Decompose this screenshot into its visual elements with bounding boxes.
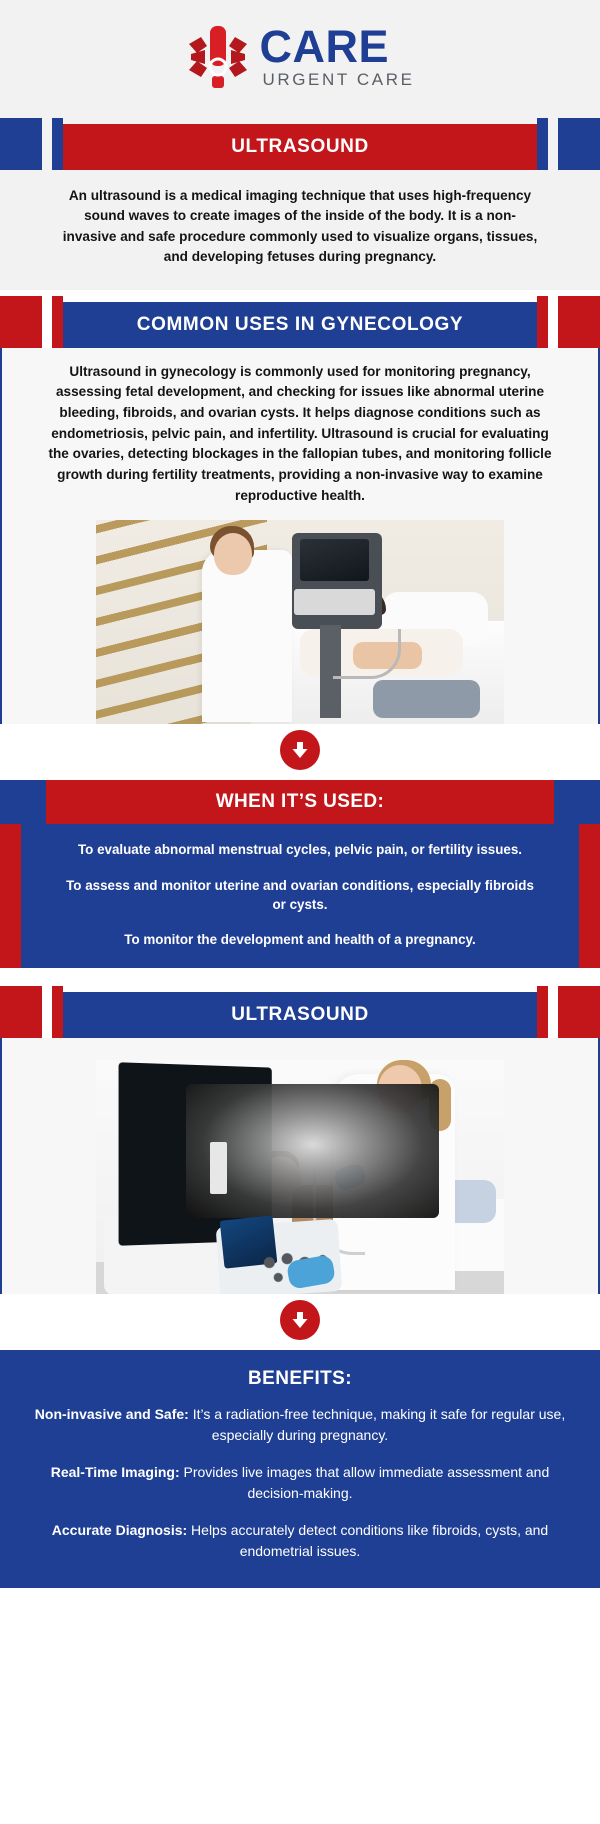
infographic-page: CARE URGENT CARE ULTRASOUND An ultrasoun… (0, 0, 600, 1588)
decor-block-wide (0, 986, 42, 1038)
gynecology-section: Ultrasound in gynecology is commonly use… (0, 348, 600, 745)
decor-block-narrow (537, 296, 548, 348)
arrow-down-divider-2 (0, 1294, 600, 1350)
gynecology-photo-frame (96, 520, 504, 742)
ultrasound-photo-frame (96, 1060, 504, 1312)
decor-block-narrow (537, 118, 548, 170)
benefit-text: Provides live images that allow immediat… (180, 1464, 550, 1501)
list-item: To assess and monitor uterine and ovaria… (65, 876, 534, 915)
list-item: To monitor the development and health of… (65, 930, 534, 949)
ultrasound-banner-row: ULTRASOUND (0, 112, 600, 170)
decor-block-narrow (52, 118, 63, 170)
logo-header: CARE URGENT CARE (0, 0, 600, 112)
decor-gap (548, 118, 558, 170)
decor-block-wide (558, 986, 600, 1038)
benefit-lead: Non-invasive and Safe: (35, 1406, 189, 1422)
decor-gap (42, 296, 52, 348)
ultrasound-photo-section (0, 1038, 600, 1314)
benefit-item: Real-Time Imaging: Provides live images … (34, 1462, 566, 1504)
decor-block-wide (558, 296, 600, 348)
decor-block-right (579, 824, 600, 968)
arrow-down-circle-icon (280, 1300, 320, 1340)
decor-block-narrow (52, 296, 63, 348)
list-item: To evaluate abnormal menstrual cycles, p… (65, 840, 534, 859)
logo-sub-text: URGENT CARE (259, 71, 414, 88)
logo-main-text: CARE (259, 26, 389, 69)
right-decor-blocks (537, 112, 600, 170)
benefit-item: Non-invasive and Safe: It’s a radiation-… (34, 1404, 566, 1446)
ultrasound-banner-title: ULTRASOUND (63, 124, 537, 170)
left-decor-blocks (0, 290, 63, 348)
decor-block-wide (0, 118, 42, 170)
when-used-body-row: To evaluate abnormal menstrual cycles, p… (0, 824, 600, 968)
brand-logo[interactable]: CARE URGENT CARE (185, 22, 414, 92)
benefit-lead: Real-Time Imaging: (51, 1464, 180, 1480)
arrow-down-circle-icon (280, 730, 320, 770)
when-used-header-row: WHEN IT’S USED: (0, 780, 600, 824)
benefits-title: BENEFITS: (34, 1368, 566, 1390)
benefit-item: Accurate Diagnosis: Helps accurately det… (34, 1520, 566, 1562)
right-decor-blocks (537, 290, 600, 348)
left-decor-blocks (0, 980, 63, 1038)
ultrasound-intro-text: An ultrasound is a medical imaging techn… (0, 170, 600, 290)
right-decor-blocks (537, 980, 600, 1038)
when-used-list: To evaluate abnormal menstrual cycles, p… (21, 824, 578, 968)
decor-block-wide (0, 296, 42, 348)
ultrasound-scan-photo (96, 1060, 504, 1300)
spacer (0, 968, 600, 980)
ultrasound-photo-banner-title: ULTRASOUND (63, 992, 537, 1038)
when-used-title: WHEN IT’S USED: (46, 780, 554, 824)
decor-block-left (0, 780, 46, 824)
decor-gap (548, 296, 558, 348)
benefit-lead: Accurate Diagnosis: (52, 1522, 187, 1538)
benefit-text: It’s a radiation-free technique, making … (189, 1406, 565, 1443)
decor-block-left (0, 824, 21, 968)
left-decor-blocks (0, 112, 63, 170)
decor-gap (42, 118, 52, 170)
gynecology-banner-title: COMMON USES IN GYNECOLOGY (63, 302, 537, 348)
decor-block-narrow (537, 986, 548, 1038)
gynecology-banner-row: COMMON USES IN GYNECOLOGY (0, 290, 600, 348)
decor-gap (42, 986, 52, 1038)
benefit-text: Helps accurately detect conditions like … (187, 1522, 548, 1559)
gynecology-body-text: Ultrasound in gynecology is commonly use… (32, 362, 568, 507)
decor-gap (548, 986, 558, 1038)
benefits-section: BENEFITS: Non-invasive and Safe: It’s a … (0, 1350, 600, 1588)
ultrasound-exam-photo (96, 520, 504, 730)
decor-block-narrow (52, 986, 63, 1038)
decor-block-right (554, 780, 600, 824)
decor-block-wide (558, 118, 600, 170)
logo-wordmark: CARE URGENT CARE (259, 26, 414, 89)
medical-cross-caduceus-mark-icon (185, 22, 251, 92)
arrow-down-divider-1 (0, 724, 600, 780)
ultrasound-photo-banner-row: ULTRASOUND (0, 980, 600, 1038)
